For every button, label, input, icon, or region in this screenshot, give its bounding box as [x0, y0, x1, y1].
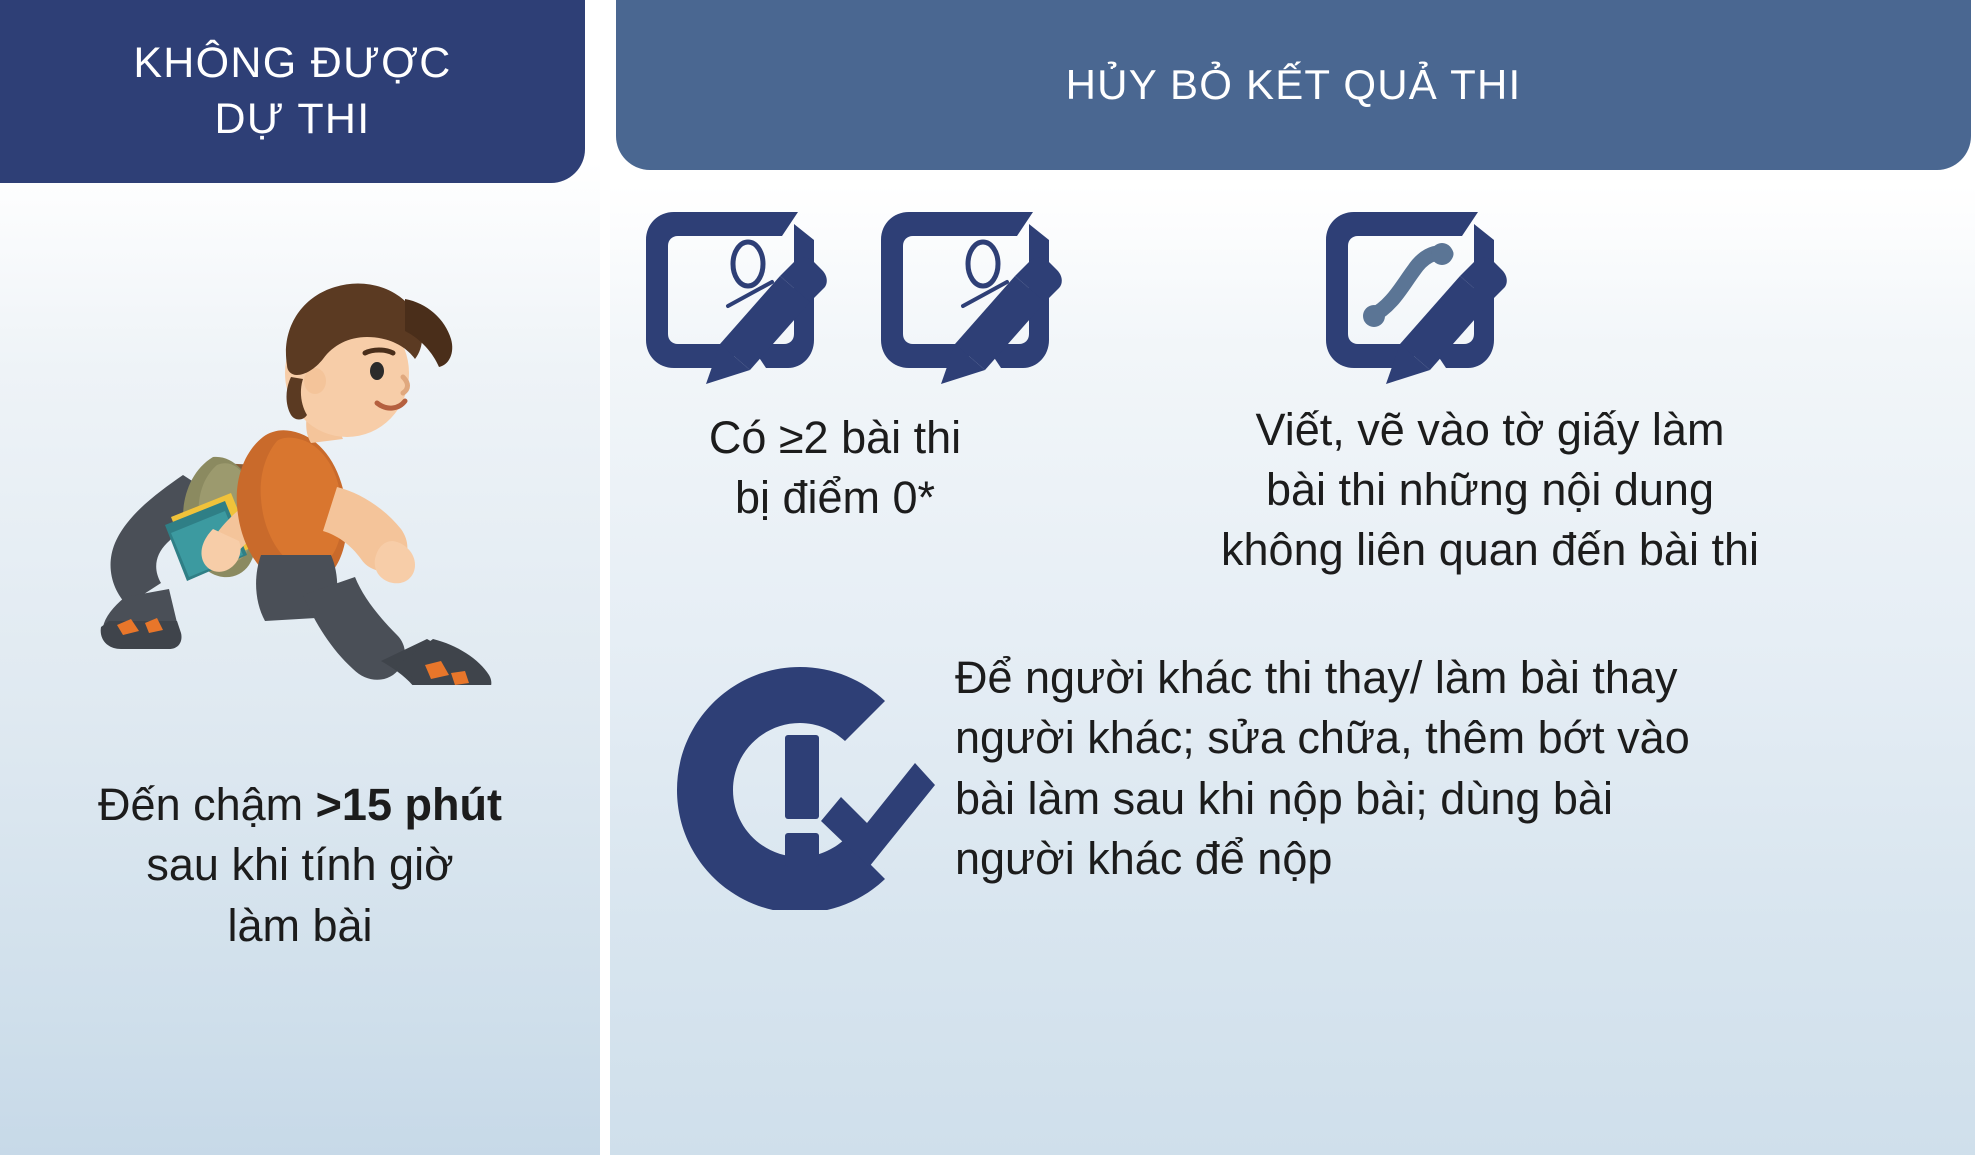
caption-proxy-line-2: người khác; sửa chữa, thêm bớt vào — [955, 708, 1975, 768]
caption-write-line-1: Viết, vẽ vào tờ giấy làm — [1060, 400, 1920, 460]
caption-proxy-line-1: Để người khác thi thay/ làm bài thay — [955, 648, 1975, 708]
caption-write-line-2: bài thi những nội dung — [1060, 460, 1920, 520]
icon-row — [610, 198, 1975, 398]
left-header-title: KHÔNG ĐƯỢC DỰ THI — [111, 36, 473, 146]
left-caption: Đến chậm >15 phút sau khi tính giờ làm b… — [0, 775, 600, 956]
right-header-title: HỦY BỎ KẾT QUẢ THI — [1066, 61, 1522, 109]
left-header-line-1: KHÔNG ĐƯỢC — [133, 36, 451, 91]
caption-writing-drawing: Viết, vẽ vào tờ giấy làm bài thi những n… — [1060, 400, 1920, 580]
left-caption-line-2: sau khi tính giờ — [10, 835, 590, 895]
left-caption-line-3: làm bài — [10, 896, 590, 956]
caption-proxy-line-4: người khác để nộp — [955, 829, 1975, 889]
infographic-page: KHÔNG ĐƯỢC DỰ THI — [0, 0, 1975, 1155]
caption-proxy-test-taking: Để người khác thi thay/ làm bài thay ngư… — [955, 648, 1975, 889]
exclamation-check-circle-icon — [665, 655, 935, 910]
left-caption-line-1: Đến chậm >15 phút — [10, 775, 590, 835]
caption-zero-scores: Có ≥2 bài thi bị điểm 0* — [620, 408, 1050, 528]
caption-zero-line-2: bị điểm 0* — [620, 468, 1050, 528]
right-column: HỦY BỎ KẾT QUẢ THI — [610, 0, 1975, 1155]
caption-write-line-3: không liên quan đến bài thi — [1060, 520, 1920, 580]
column-divider — [600, 0, 610, 1155]
left-header-line-2: DỰ THI — [133, 92, 451, 147]
right-header-banner: HỦY BỎ KẾT QUẢ THI — [616, 0, 1971, 170]
document-pencil-zero-icon — [630, 198, 830, 403]
document-pencil-zero-icon-2 — [865, 198, 1065, 403]
left-column: KHÔNG ĐƯỢC DỰ THI — [0, 0, 600, 1155]
caption-proxy-line-3: bài làm sau khi nộp bài; dùng bài — [955, 769, 1975, 829]
running-student-illustration — [65, 225, 535, 685]
left-caption-bold: >15 phút — [316, 779, 502, 830]
document-pencil-scribble-icon — [1310, 198, 1510, 403]
left-header-banner: KHÔNG ĐƯỢC DỰ THI — [0, 0, 585, 183]
left-caption-prefix: Đến chậm — [98, 779, 316, 830]
caption-zero-line-1: Có ≥2 bài thi — [620, 408, 1050, 468]
